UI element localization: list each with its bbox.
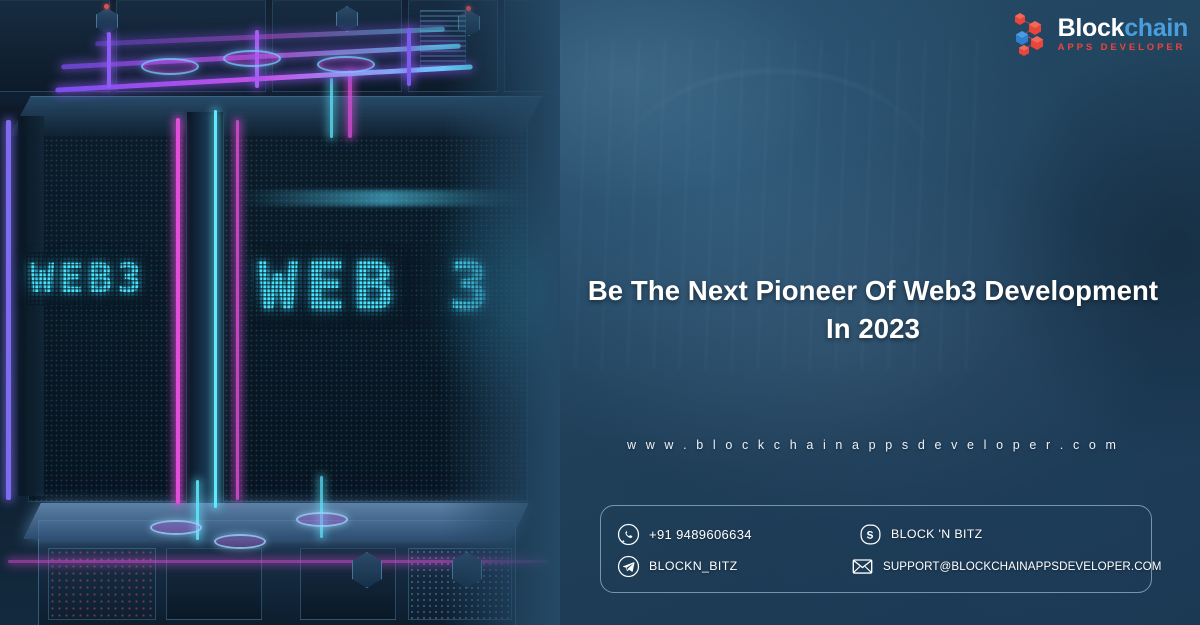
contact-details-box: +91 9489606634 BLOCK 'N BITZ xyxy=(600,505,1152,593)
envelope-icon xyxy=(851,555,874,578)
neon-bar-blue xyxy=(6,120,11,500)
content-column: Blockchain APPS DEVELOPER Be The Next Pi… xyxy=(546,0,1200,625)
neon-bar-cyan xyxy=(214,110,217,508)
floating-neon-frame xyxy=(55,14,485,114)
promo-banner: WEB3 WEB 3 xyxy=(0,0,1200,625)
headline-line-2: In 2023 xyxy=(546,310,1200,348)
logo-word-block: Block xyxy=(1058,14,1125,42)
logo-tagline: APPS DEVELOPER xyxy=(1058,43,1188,53)
brand-logo[interactable]: Blockchain APPS DEVELOPER xyxy=(1011,10,1188,56)
contact-telegram[interactable]: BLOCKN_BITZ xyxy=(617,555,849,578)
website-url[interactable]: w w w . b l o c k c h a i n a p p s d e … xyxy=(546,438,1200,452)
led-web3-small: WEB3 xyxy=(30,256,146,302)
cube-divider-column xyxy=(186,112,224,504)
scene-edge-fade xyxy=(442,0,560,625)
page-title: Be The Next Pioneer Of Web3 Development … xyxy=(546,272,1200,348)
neon-drop-cyan-2 xyxy=(320,476,323,538)
web3-cube-artwork: WEB3 WEB 3 xyxy=(0,0,560,625)
whatsapp-icon xyxy=(617,523,640,546)
skype-id: BLOCK 'N BITZ xyxy=(891,527,983,541)
contact-whatsapp[interactable]: +91 9489606634 xyxy=(617,523,849,546)
headline-line-1: Be The Next Pioneer Of Web3 Development xyxy=(546,272,1200,310)
telegram-icon xyxy=(617,555,640,578)
contact-email[interactable]: SUPPORT@BLOCKCHAINAPPSDEVELOPER.COM xyxy=(849,555,1162,578)
hexagon-cube-cluster-icon xyxy=(1011,10,1051,56)
telegram-id: BLOCKN_BITZ xyxy=(649,559,738,573)
cube-side-face xyxy=(18,116,44,496)
logo-wordmark: Blockchain APPS DEVELOPER xyxy=(1058,14,1188,53)
skype-icon xyxy=(859,523,882,546)
whatsapp-number: +91 9489606634 xyxy=(649,527,752,542)
contact-skype[interactable]: BLOCK 'N BITZ xyxy=(849,523,1162,546)
neon-bar-magenta-2 xyxy=(236,120,239,500)
neon-bar-magenta xyxy=(176,118,180,504)
logo-word-chain: chain xyxy=(1124,14,1188,42)
email-address: SUPPORT@BLOCKCHAINAPPSDEVELOPER.COM xyxy=(883,560,1162,573)
